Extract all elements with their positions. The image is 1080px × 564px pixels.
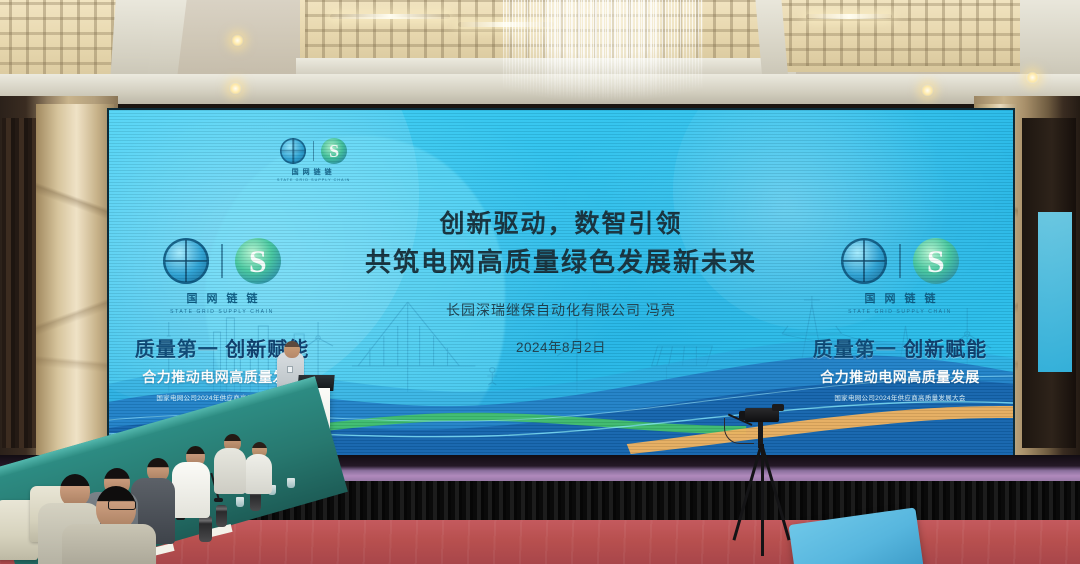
- eyeglasses-icon: [108, 500, 136, 510]
- slide-logo-marks: [280, 138, 347, 164]
- slide-logo: 国网链链 STATE GRID SUPPLY CHAIN: [277, 138, 350, 182]
- banner-left-logo-cn: 国网链链: [178, 290, 267, 306]
- conference-room-photo: 国网链链 STATE GRID SUPPLY CHAIN 创新驱动，数智引领 共…: [0, 0, 1080, 564]
- water-cup: [287, 478, 295, 488]
- banner-left-logo-en: STATE GRID SUPPLY CHAIN: [170, 309, 274, 315]
- strip-light: [330, 14, 450, 19]
- left-marble-pillar: [36, 104, 114, 456]
- audience-person: [62, 524, 156, 564]
- left-curtain: [2, 118, 36, 448]
- banner-right: 国网链链 STATE GRID SUPPLY CHAIN 质量第一 创新赋能 合…: [800, 238, 1000, 402]
- audience-person: [244, 454, 272, 494]
- banner-right-logo: 国网链链 STATE GRID SUPPLY CHAIN: [800, 238, 1000, 315]
- banner-right-footline: 国家电网公司2024年供应商高质量发展大会: [800, 392, 1000, 402]
- thermos-bottle: [216, 505, 227, 527]
- audience-person: [214, 448, 246, 494]
- banner-right-subline: 合力推动电网高质量发展: [800, 367, 1000, 387]
- logo-divider: [313, 141, 314, 161]
- slide-logo-cn: 国网链链: [292, 167, 336, 177]
- downlight: [229, 82, 242, 95]
- camera-viewfinder: [772, 404, 784, 411]
- downlight: [231, 34, 244, 47]
- banner-right-logo-cn: 国网链链: [856, 290, 945, 306]
- strip-light: [806, 14, 892, 19]
- logo-divider: [221, 244, 223, 278]
- water-cup: [236, 497, 244, 507]
- downlight: [921, 84, 934, 97]
- state-grid-globe-icon: [163, 238, 209, 284]
- supply-chain-s-icon: [321, 138, 347, 164]
- state-grid-globe-icon: [280, 138, 306, 164]
- slide-logo-en: STATE GRID SUPPLY CHAIN: [277, 178, 350, 182]
- ceiling-fretwork: [772, 0, 1046, 66]
- right-secondary-screen: [1038, 212, 1072, 372]
- supply-chain-s-icon: [235, 238, 281, 284]
- banner-left-logo-marks: [163, 238, 281, 284]
- speaker-head: [284, 341, 300, 358]
- banner-right-logo-en: STATE GRID SUPPLY CHAIN: [848, 309, 952, 315]
- banner-left-headline-a: 质量第一: [135, 339, 219, 361]
- banner-right-headline-b: 创新赋能: [903, 339, 987, 361]
- crystal-chandelier: [503, 0, 703, 102]
- audience-person: [172, 462, 210, 518]
- banner-right-headline-a: 质量第一: [813, 339, 897, 361]
- thermos-bottle: [199, 516, 212, 542]
- ceiling: [0, 0, 1080, 104]
- speaker-badge: [287, 366, 293, 373]
- logo-divider: [899, 244, 901, 278]
- banner-left-logo: 国网链链 STATE GRID SUPPLY CHAIN: [122, 238, 322, 315]
- supply-chain-s-icon: [913, 238, 959, 284]
- downlight: [1026, 71, 1039, 84]
- state-grid-globe-icon: [841, 238, 887, 284]
- banner-right-headline: 质量第一 创新赋能: [800, 333, 1000, 362]
- tripod-leg: [761, 444, 764, 556]
- banner-right-logo-marks: [841, 238, 959, 284]
